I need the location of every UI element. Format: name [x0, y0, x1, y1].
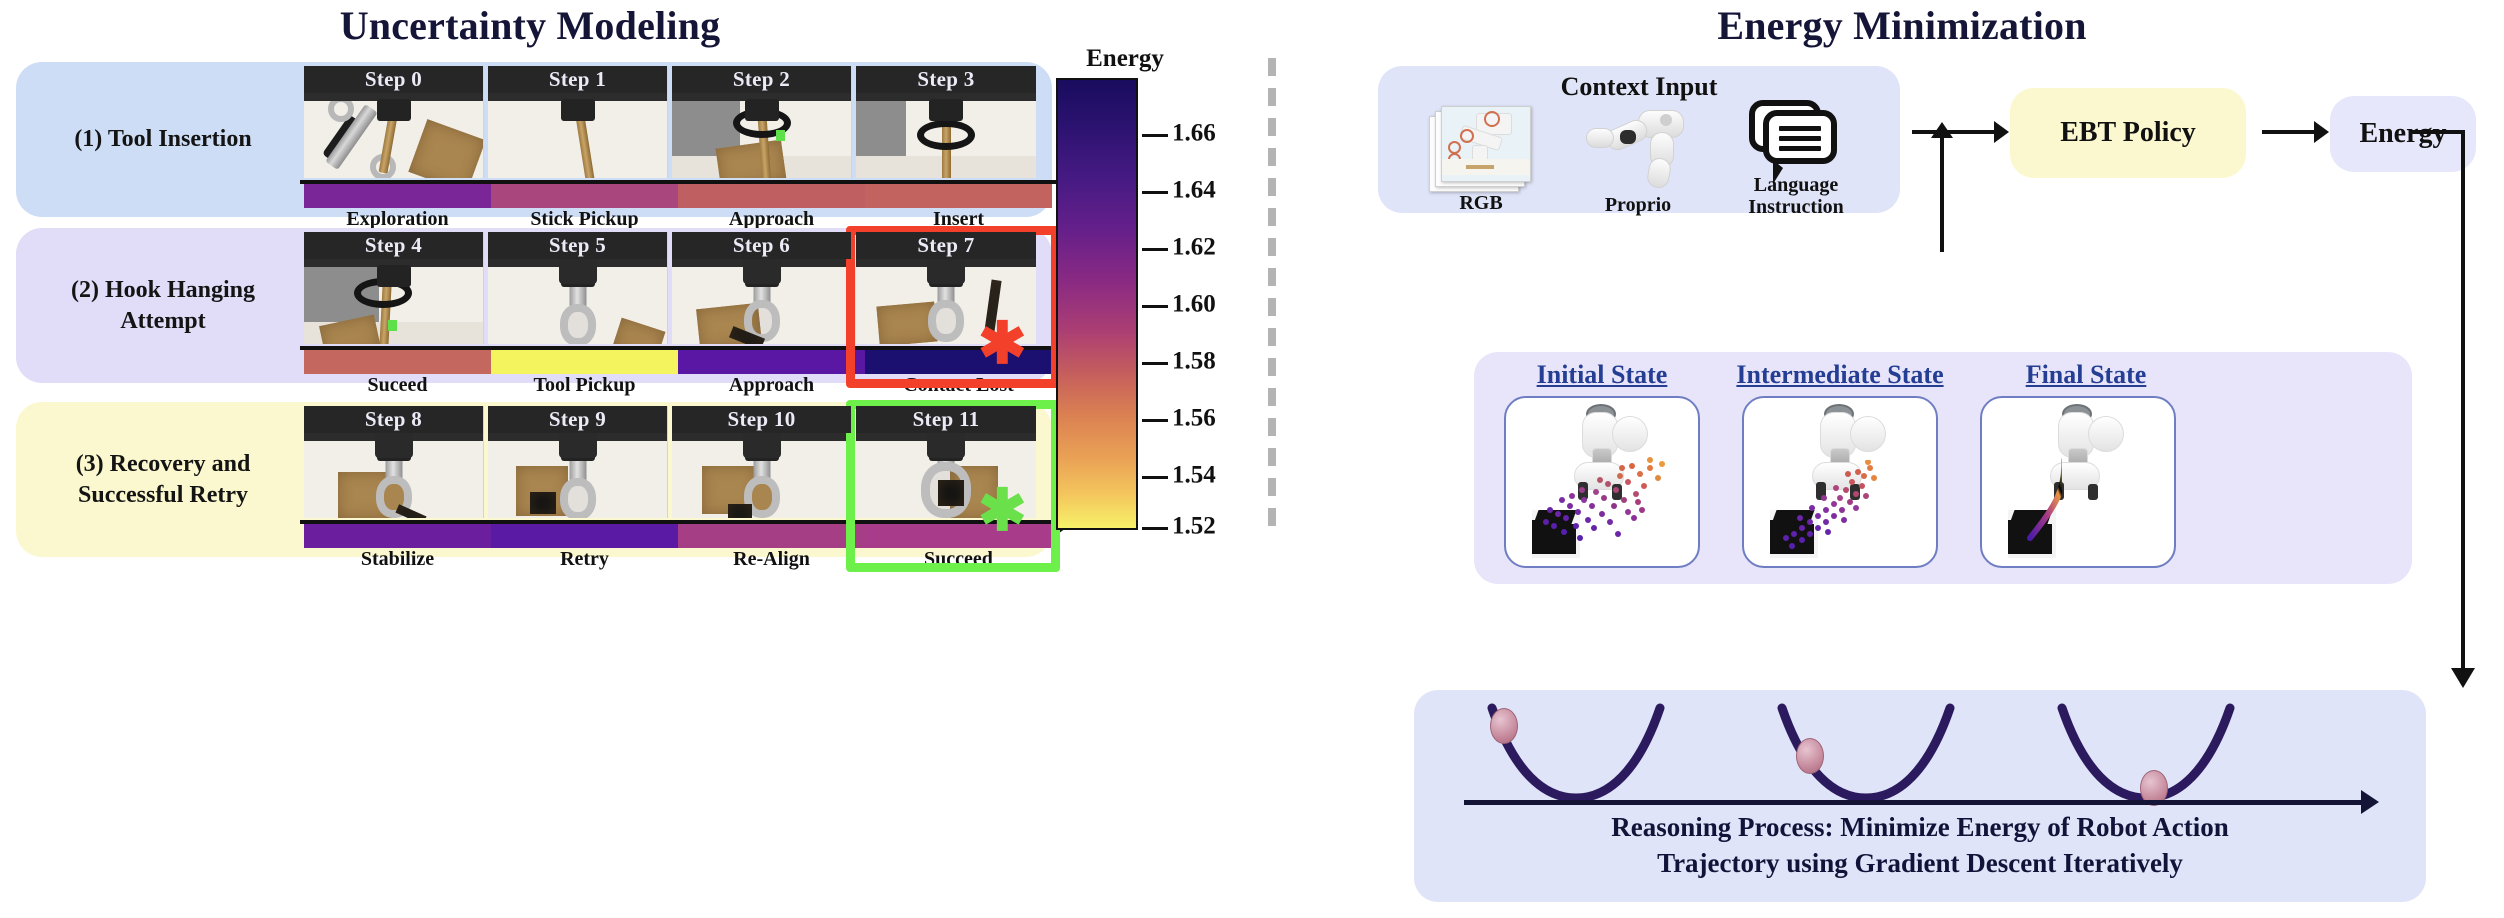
arrow-context-to-policy	[1912, 130, 1996, 134]
robot-arm-icon	[1580, 106, 1696, 192]
row-hook-hanging: (2) Hook Hanging Attempt Step 4	[16, 228, 1052, 383]
phase-segment	[678, 524, 865, 548]
feedback-loop-down-arrow	[2461, 132, 2465, 670]
context-item-proprio[interactable]: Proprio	[1568, 106, 1708, 216]
context-input-card: Context Input	[1378, 66, 1900, 213]
row-label-1: (1) Tool Insertion	[30, 62, 296, 217]
row-recovery-retry: (3) Recovery and Successful Retry Step 8	[16, 402, 1052, 557]
phase-bar-2	[304, 350, 1052, 374]
colorbar-title: Energy	[1060, 45, 1190, 73]
phase-segment	[491, 184, 678, 208]
gradient-descent-ball-1	[1490, 708, 1518, 744]
ebt-policy-card[interactable]: EBT Policy	[2010, 88, 2246, 178]
context-caption-rgb: RGB	[1406, 192, 1556, 214]
row-tool-insertion: (1) Tool Insertion Step 0	[16, 62, 1052, 217]
colorbar-tick	[1142, 362, 1168, 365]
phase-labels-2: Suceed Tool Pickup Approach Contact Lost	[304, 374, 1052, 398]
thumbnail-step[interactable]: Step 4	[304, 232, 484, 344]
thumbnail-step-label: Step 10	[672, 406, 851, 433]
colorbar-tick	[1142, 134, 1168, 137]
phase-label: Suceed	[304, 374, 491, 397]
feedback-loop-top	[2412, 130, 2465, 134]
image-stack-icon	[1429, 106, 1533, 190]
thumbnail-step[interactable]: Step 2	[672, 66, 852, 178]
thumbnail-step-label: Step 6	[672, 232, 851, 259]
colorbar-tick	[1142, 527, 1168, 530]
phase-segment	[865, 184, 1052, 208]
reasoning-text-line-1: Reasoning Process: Minimize Energy of Ro…	[1414, 812, 2426, 843]
phase-label: Stabilize	[304, 548, 491, 571]
colorbar-tick-label: 1.52	[1172, 512, 1216, 540]
state-box-final[interactable]	[1980, 396, 2176, 568]
row-label-3: (3) Recovery and Successful Retry	[30, 402, 296, 557]
phase-label: Contact Lost	[865, 374, 1052, 397]
phase-labels-3: Stabilize Retry Re-Align Succeed	[304, 548, 1052, 572]
panel-divider	[1268, 58, 1276, 530]
arrow-policy-to-energy	[2262, 130, 2316, 134]
state-title-initial: Initial State	[1486, 360, 1718, 390]
colorbar-tick	[1142, 191, 1168, 194]
colorbar-tick	[1142, 305, 1168, 308]
colorbar-tick-label: 1.56	[1172, 404, 1216, 432]
colorbar-tick	[1142, 476, 1168, 479]
thumbnail-step[interactable]: Step 0	[304, 66, 484, 178]
phase-segment	[678, 350, 865, 374]
thumbnail-step-label: Step 3	[856, 66, 1036, 93]
thumbnail-step-label: Step 2	[672, 66, 851, 93]
energy-card[interactable]: Energy	[2330, 96, 2476, 172]
phase-bar-1	[304, 184, 1052, 208]
reasoning-process-card: Reasoning Process: Minimize Energy of Ro…	[1414, 690, 2426, 902]
colorbar-tick-label: 1.62	[1172, 233, 1216, 261]
thumbnail-step-label: Step 5	[488, 232, 667, 259]
energy-label: Energy	[2330, 96, 2476, 172]
thumbnail-step-label: Step 1	[488, 66, 667, 93]
colorbar-tick-label: 1.58	[1172, 347, 1216, 375]
left-panel-title: Uncertainty Modeling	[0, 2, 1060, 49]
colorbar-tick-label: 1.54	[1172, 461, 1216, 489]
phase-label: Retry	[491, 548, 678, 571]
particle-cloud-intermediate	[1778, 460, 1908, 568]
thumbnail-step-label: Step 11	[856, 406, 1036, 433]
phase-segment	[491, 524, 678, 548]
thumbnail-step-label: Step 4	[304, 232, 483, 259]
state-title-intermediate: Intermediate State	[1724, 360, 1956, 390]
chat-bubbles-icon	[1749, 100, 1843, 172]
energy-colorbar: 1.66 1.64 1.62 1.60 1.58 1.56 1.54 1.52	[1056, 78, 1138, 530]
colorbar-tick-label: 1.60	[1172, 290, 1216, 318]
thumbnail-step[interactable]: Step 10	[672, 406, 852, 518]
thumbnail-step[interactable]: Step 6	[672, 232, 852, 344]
thumbnail-step[interactable]: Step 8	[304, 406, 484, 518]
colorbar-tick-label: 1.64	[1172, 176, 1216, 204]
thumbnail-step[interactable]: Step 3	[856, 66, 1036, 178]
context-item-rgb[interactable]: RGB	[1406, 106, 1556, 214]
phase-segment	[678, 184, 865, 208]
feedback-arrow-up	[1940, 136, 1944, 252]
thumbnail-step-label: Step 8	[304, 406, 483, 433]
phase-segment	[491, 350, 678, 374]
state-box-intermediate[interactable]	[1742, 396, 1938, 568]
colorbar-tick-label: 1.66	[1172, 119, 1216, 147]
phase-label: Tool Pickup	[491, 374, 678, 397]
context-input-title: Context Input	[1378, 72, 1900, 102]
phase-segment	[304, 350, 491, 374]
phase-segment	[304, 524, 491, 548]
phase-segment	[304, 184, 491, 208]
success-asterisk-icon: ✱	[978, 492, 1027, 530]
thumbnail-step[interactable]: Step 1	[488, 66, 668, 178]
phase-label: Approach	[678, 374, 865, 397]
colorbar-tick	[1142, 419, 1168, 422]
colorbar-gradient	[1058, 80, 1136, 528]
right-panel-title: Energy Minimization	[1300, 2, 2504, 49]
ebt-policy-label: EBT Policy	[2010, 88, 2246, 178]
colorbar-tick	[1142, 248, 1168, 251]
reasoning-text-line-2: Trajectory using Gradient Descent Iterat…	[1414, 848, 2426, 879]
context-caption-language: Language Instruction	[1716, 174, 1876, 219]
gradient-descent-ball-2	[1796, 738, 1824, 774]
thumbnail-step-label: Step 9	[488, 406, 667, 433]
figure-root: Uncertainty Modeling Energy Minimization…	[0, 0, 2504, 918]
optimal-trajectory-curve	[2012, 458, 2062, 542]
phase-label: Re-Align	[678, 548, 865, 571]
phase-bar-3	[304, 524, 1052, 548]
context-item-language[interactable]: Language Instruction	[1716, 100, 1876, 219]
thumbnail-step-label: Step 0	[304, 66, 483, 93]
state-box-initial[interactable]	[1504, 396, 1700, 568]
context-caption-proprio: Proprio	[1568, 194, 1708, 216]
reasoning-axis	[1464, 800, 2364, 805]
row-label-2: (2) Hook Hanging Attempt	[30, 228, 296, 383]
failure-asterisk-icon: ✱	[978, 325, 1027, 363]
thumbnail-step[interactable]: Step 9	[488, 406, 668, 518]
particle-cloud-initial	[1532, 456, 1692, 566]
thumbnail-step[interactable]: Step 5	[488, 232, 668, 344]
states-card: Initial State Intermediate State Final S…	[1474, 352, 2412, 584]
state-title-final: Final State	[1970, 360, 2202, 390]
thumbnail-step-label: Step 7	[856, 232, 1036, 259]
phase-label: Succeed	[865, 548, 1052, 571]
